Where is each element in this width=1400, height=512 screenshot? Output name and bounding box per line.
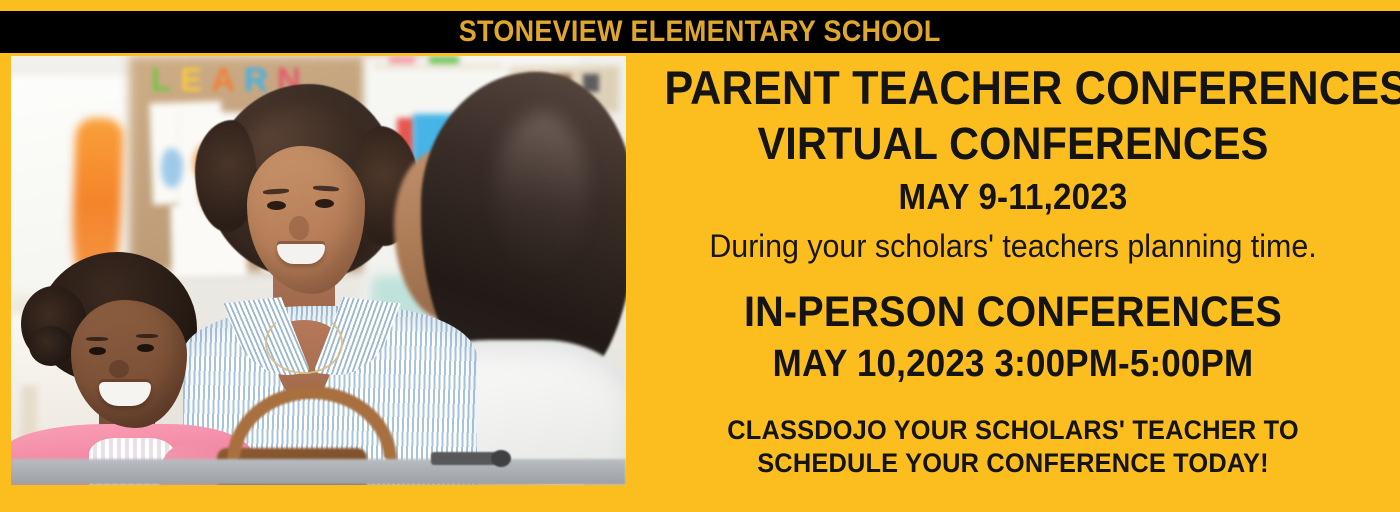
table-surface <box>11 459 626 485</box>
virtual-conference-date: MAY 9-11,2023 <box>664 179 1361 216</box>
mother-necklace <box>265 312 343 374</box>
learn-letter-l: L <box>151 64 171 98</box>
conference-flyer: STONEVIEW ELEMENTARY SCHOOL L E A R N <box>0 0 1400 512</box>
call-to-action: CLASSDOJO YOUR SCHOLARS' TEACHER TO SCHE… <box>657 414 1370 480</box>
child-eyebrow <box>136 334 158 338</box>
mother-nose <box>289 216 309 240</box>
child-eyebrow <box>86 337 108 341</box>
child-eye <box>89 347 106 355</box>
mother-eye <box>267 201 286 210</box>
child-face <box>71 300 187 428</box>
child-eye <box>137 344 154 352</box>
headline-parent-teacher-conferences: PARENT TEACHER CONFERENCES <box>664 64 1361 112</box>
book <box>389 56 415 64</box>
announcement-text-column: PARENT TEACHER CONFERENCES VIRTUAL CONFE… <box>634 56 1392 496</box>
clipboard-clip <box>431 452 497 465</box>
child-nose <box>109 360 129 378</box>
conference-photo: L E A R N <box>11 56 626 485</box>
teacher-hair-highlight <box>496 112 588 272</box>
in-person-conference-date: MAY 10,2023 3:00PM-5:00PM <box>664 345 1361 384</box>
photo-scene: L E A R N <box>11 56 626 485</box>
headline-in-person-conferences: IN-PERSON CONFERENCES <box>664 291 1361 335</box>
cta-line-2: SCHEDULE YOUR CONFERENCE TODAY! <box>657 447 1370 480</box>
school-name-banner: STONEVIEW ELEMENTARY SCHOOL <box>0 11 1400 53</box>
school-name-title: STONEVIEW ELEMENTARY SCHOOL <box>459 17 941 47</box>
book <box>429 56 459 64</box>
cta-line-1: CLASSDOJO YOUR SCHOLARS' TEACHER TO <box>657 414 1370 447</box>
mother-eye <box>315 199 334 208</box>
virtual-conference-note: During your scholars' teachers planning … <box>653 230 1373 264</box>
headline-virtual-conferences: VIRTUAL CONFERENCES <box>664 121 1361 167</box>
